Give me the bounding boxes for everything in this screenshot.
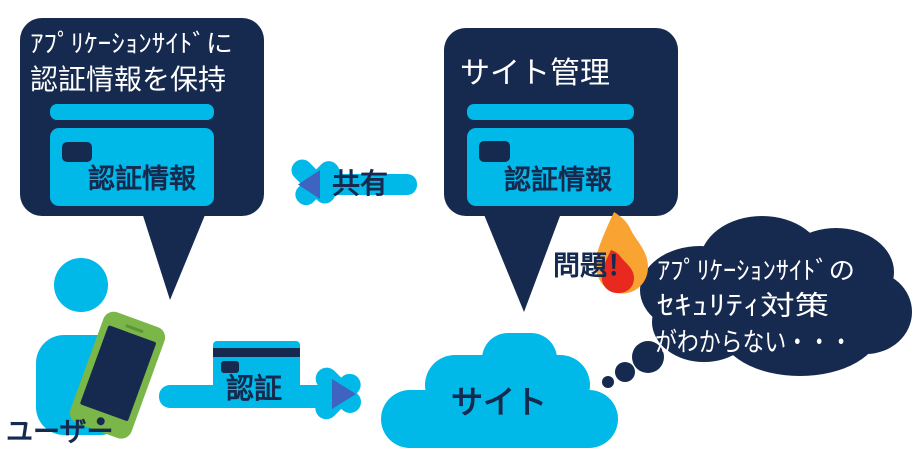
diagram-svg: 認証情報 ｱﾌﾟﾘｹｰｼｮﾝｻｲﾄﾞに 認証情報を保持 サイト管理 認証情報 — [0, 0, 917, 467]
thought-line3: がわからない・・・ — [655, 328, 852, 358]
user-label: ユーザー — [6, 417, 113, 448]
thought-line2: ｾｷｭﾘﾃｨ対策 — [657, 291, 829, 322]
thought-bubble: ｱﾌﾟﾘｹｰｼｮﾝｻｲﾄﾞの ｾｷｭﾘﾃｨ対策 がわからない・・・ — [602, 216, 912, 388]
card-stripe — [467, 104, 634, 120]
card-chip — [62, 142, 92, 162]
thought-dot-medium — [615, 362, 635, 382]
user-head — [54, 258, 108, 312]
problem-label: 問題！ — [553, 251, 634, 282]
share-arrow: 共有 — [287, 155, 417, 209]
cloud-top — [482, 333, 557, 385]
app-bubble-line2: 認証情報を保持 — [30, 63, 226, 96]
app-bubble-line1: ｱﾌﾟﾘｹｰｼｮﾝｻｲﾄﾞに — [30, 29, 233, 58]
thought-dot-small — [602, 376, 614, 388]
site-cloud-label: サイト — [451, 383, 547, 421]
site-bubble-card-label: 認証情報 — [504, 164, 613, 196]
site-bubble-title: サイト管理 — [460, 56, 610, 91]
auth-card-magstripe — [213, 348, 300, 357]
site-cloud: サイト — [381, 333, 618, 448]
app-bubble-card-label: 認証情報 — [88, 163, 197, 195]
thought-line1: ｱﾌﾟﾘｹｰｼｮﾝｻｲﾄﾞの — [657, 256, 855, 285]
card-stripe — [50, 104, 214, 120]
share-arrow-label: 共有 — [332, 167, 388, 200]
application-side-bubble: 認証情報 ｱﾌﾟﾘｹｰｼｮﾝｻｲﾄﾞに 認証情報を保持 — [20, 18, 264, 300]
diagram-canvas: 認証情報 ｱﾌﾟﾘｹｰｼｮﾝｻｲﾄﾞに 認証情報を保持 サイト管理 認証情報 — [0, 0, 917, 467]
auth-arrow-label: 認証 — [226, 372, 282, 405]
problem-indicator: 問題！ — [553, 212, 648, 293]
card-chip — [479, 141, 510, 162]
